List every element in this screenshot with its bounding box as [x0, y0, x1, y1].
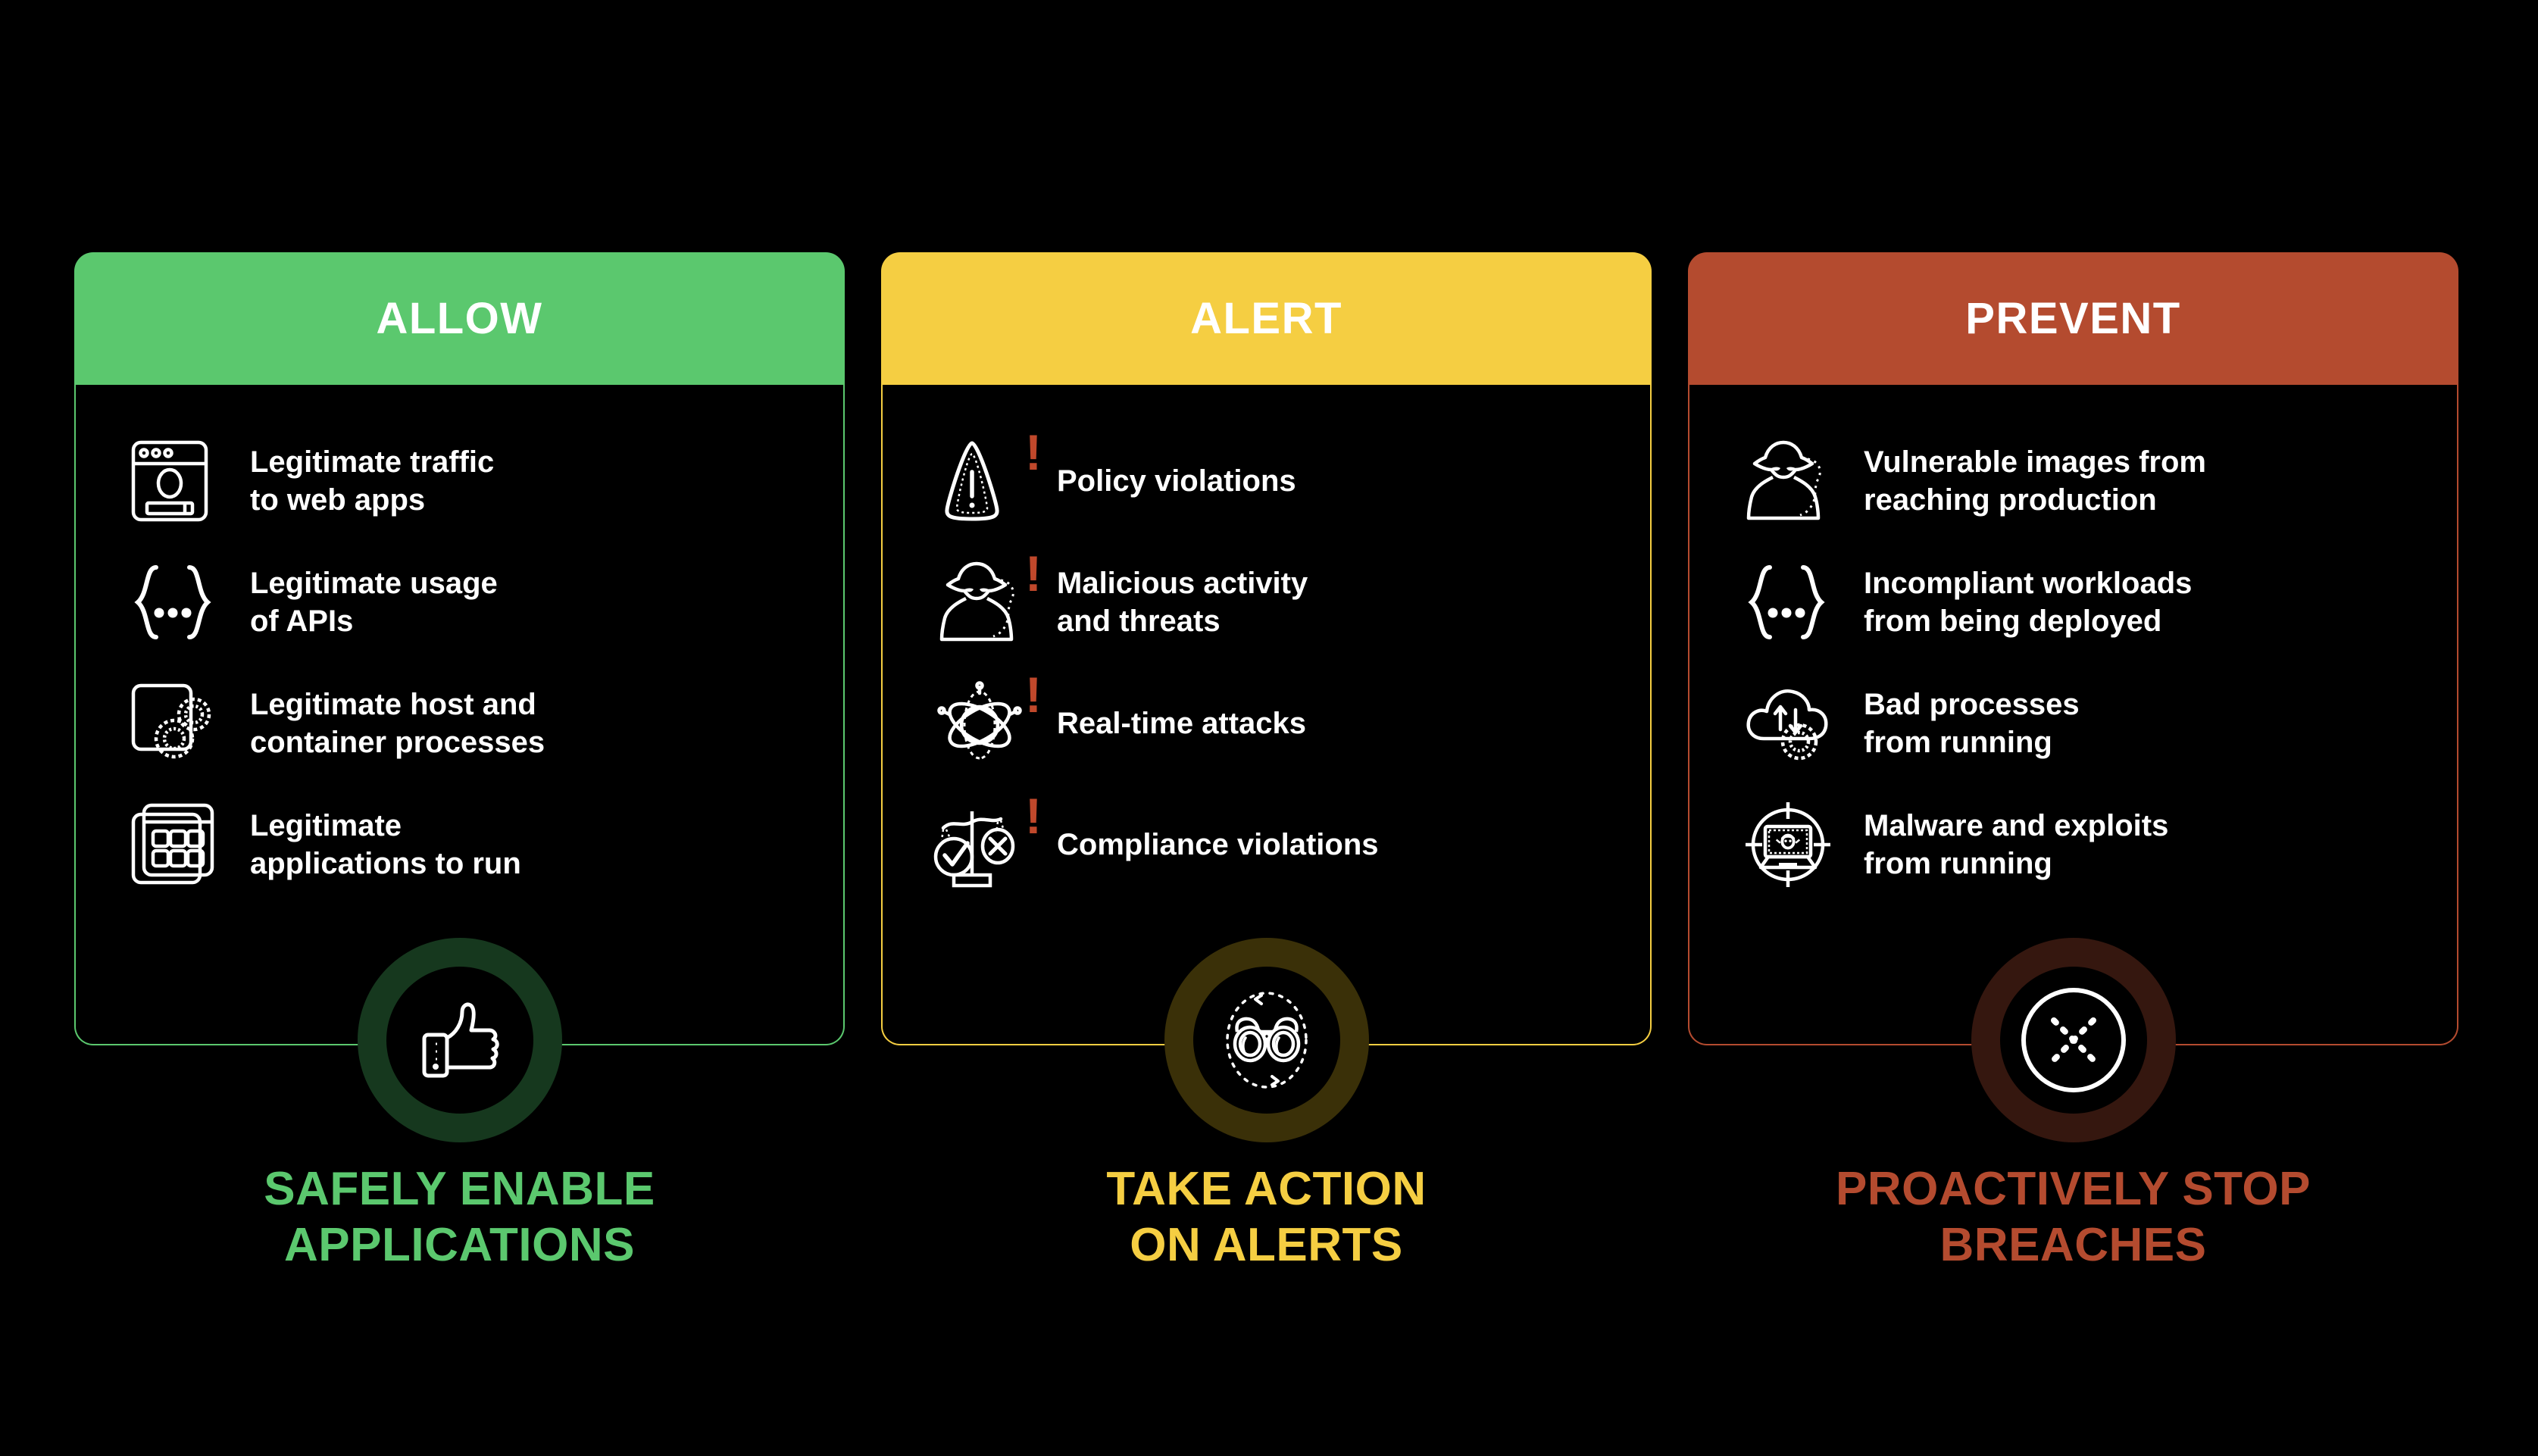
spy-hacker-icon [1744, 432, 1847, 530]
list-item: Legitimate traffic to web apps [76, 420, 843, 542]
column-caption: PROACTIVELY STOP BREACHES [1688, 1161, 2458, 1273]
list-item-label: Legitimate host and container processes [250, 686, 545, 761]
card-title-allow: ALLOW [376, 297, 542, 341]
list-item-label: Bad processes from running [1864, 686, 2080, 761]
card-header-allow: ALLOW [74, 252, 845, 385]
alert-exclamation-icon: ! [1025, 427, 1037, 477]
list-item: Vulnerable images from reaching producti… [1689, 420, 2457, 542]
column-caption: SAFELY ENABLE APPLICATIONS [74, 1161, 845, 1273]
list-item-label: Legitimate traffic to web apps [250, 443, 494, 519]
card-title-prevent: PREVENT [1965, 297, 2180, 341]
app-grid-icon [130, 795, 233, 894]
three-pillar-diagram: ALLOW [0, 0, 2538, 1456]
card-header-alert: ALERT [881, 252, 1652, 385]
x-circle-icon [2000, 967, 2147, 1114]
list-item-label: Legitimate applications to run [250, 807, 521, 883]
list-item-label: Real-time attacks [1057, 705, 1306, 742]
binoculars-icon [1193, 967, 1340, 1114]
laptop-target-icon [1744, 795, 1847, 894]
list-item: Malware and exploits from running [1689, 784, 2457, 905]
card-prevent: PREVENT Vul [1688, 252, 2458, 1045]
list-item-label: Malware and exploits from running [1864, 807, 2168, 883]
curly-braces-api-icon [130, 553, 233, 651]
list-item-label: Compliance violations [1057, 826, 1379, 864]
list-item: Legitimate applications to run [76, 784, 843, 905]
list-item: Incompliant workloads from being deploye… [1689, 542, 2457, 663]
list-item: Legitimate host and container processes [76, 663, 843, 784]
list-item-label: Vulnerable images from reaching producti… [1864, 443, 2206, 519]
alert-exclamation-icon: ! [1025, 791, 1037, 841]
list-item: ! Real-time attacks [883, 663, 1650, 784]
card-allow: ALLOW [74, 252, 845, 1045]
list-item: ! Policy violations [883, 420, 1650, 542]
column-allow: ALLOW [74, 252, 845, 1045]
warning-triangle-icon: ! [937, 432, 1040, 530]
badge-alert [1164, 938, 1369, 1142]
column-alert: ALERT ! Policy [881, 252, 1652, 1045]
card-header-prevent: PREVENT [1688, 252, 2458, 385]
card-alert: ALERT ! Policy [881, 252, 1652, 1045]
column-prevent: PREVENT Vul [1688, 252, 2458, 1045]
badge-prevent [1971, 938, 2176, 1142]
curly-braces-api-icon [1744, 553, 1847, 651]
spy-hacker-icon: ! [937, 553, 1040, 651]
list-item: Bad processes from running [1689, 663, 2457, 784]
list-item-label: Incompliant workloads from being deploye… [1864, 564, 2192, 640]
list-item-label: Legitimate usage of APIs [250, 564, 498, 640]
atom-attack-icon: ! [937, 674, 1040, 773]
thumbs-up-icon [386, 967, 533, 1114]
feature-list-prevent: Vulnerable images from reaching producti… [1689, 384, 2457, 905]
alert-exclamation-icon: ! [1025, 670, 1037, 720]
list-item-label: Malicious activity and threats [1057, 564, 1308, 640]
container-gears-icon [130, 674, 233, 773]
list-item: ! Compliance violations [883, 784, 1650, 905]
cloud-gear-icon [1744, 674, 1847, 773]
column-caption: TAKE ACTION ON ALERTS [881, 1161, 1652, 1273]
feature-list-alert: ! Policy violations [883, 384, 1650, 905]
alert-exclamation-icon: ! [1025, 548, 1037, 598]
feature-list-allow: Legitimate traffic to web apps [76, 384, 843, 905]
browser-window-icon [130, 432, 233, 530]
card-title-alert: ALERT [1190, 297, 1342, 341]
list-item-label: Policy violations [1057, 462, 1296, 500]
badge-allow [358, 938, 562, 1142]
scales-compliance-icon: ! [937, 795, 1040, 894]
list-item: ! Malicious activity and threats [883, 542, 1650, 663]
list-item: Legitimate usage of APIs [76, 542, 843, 663]
